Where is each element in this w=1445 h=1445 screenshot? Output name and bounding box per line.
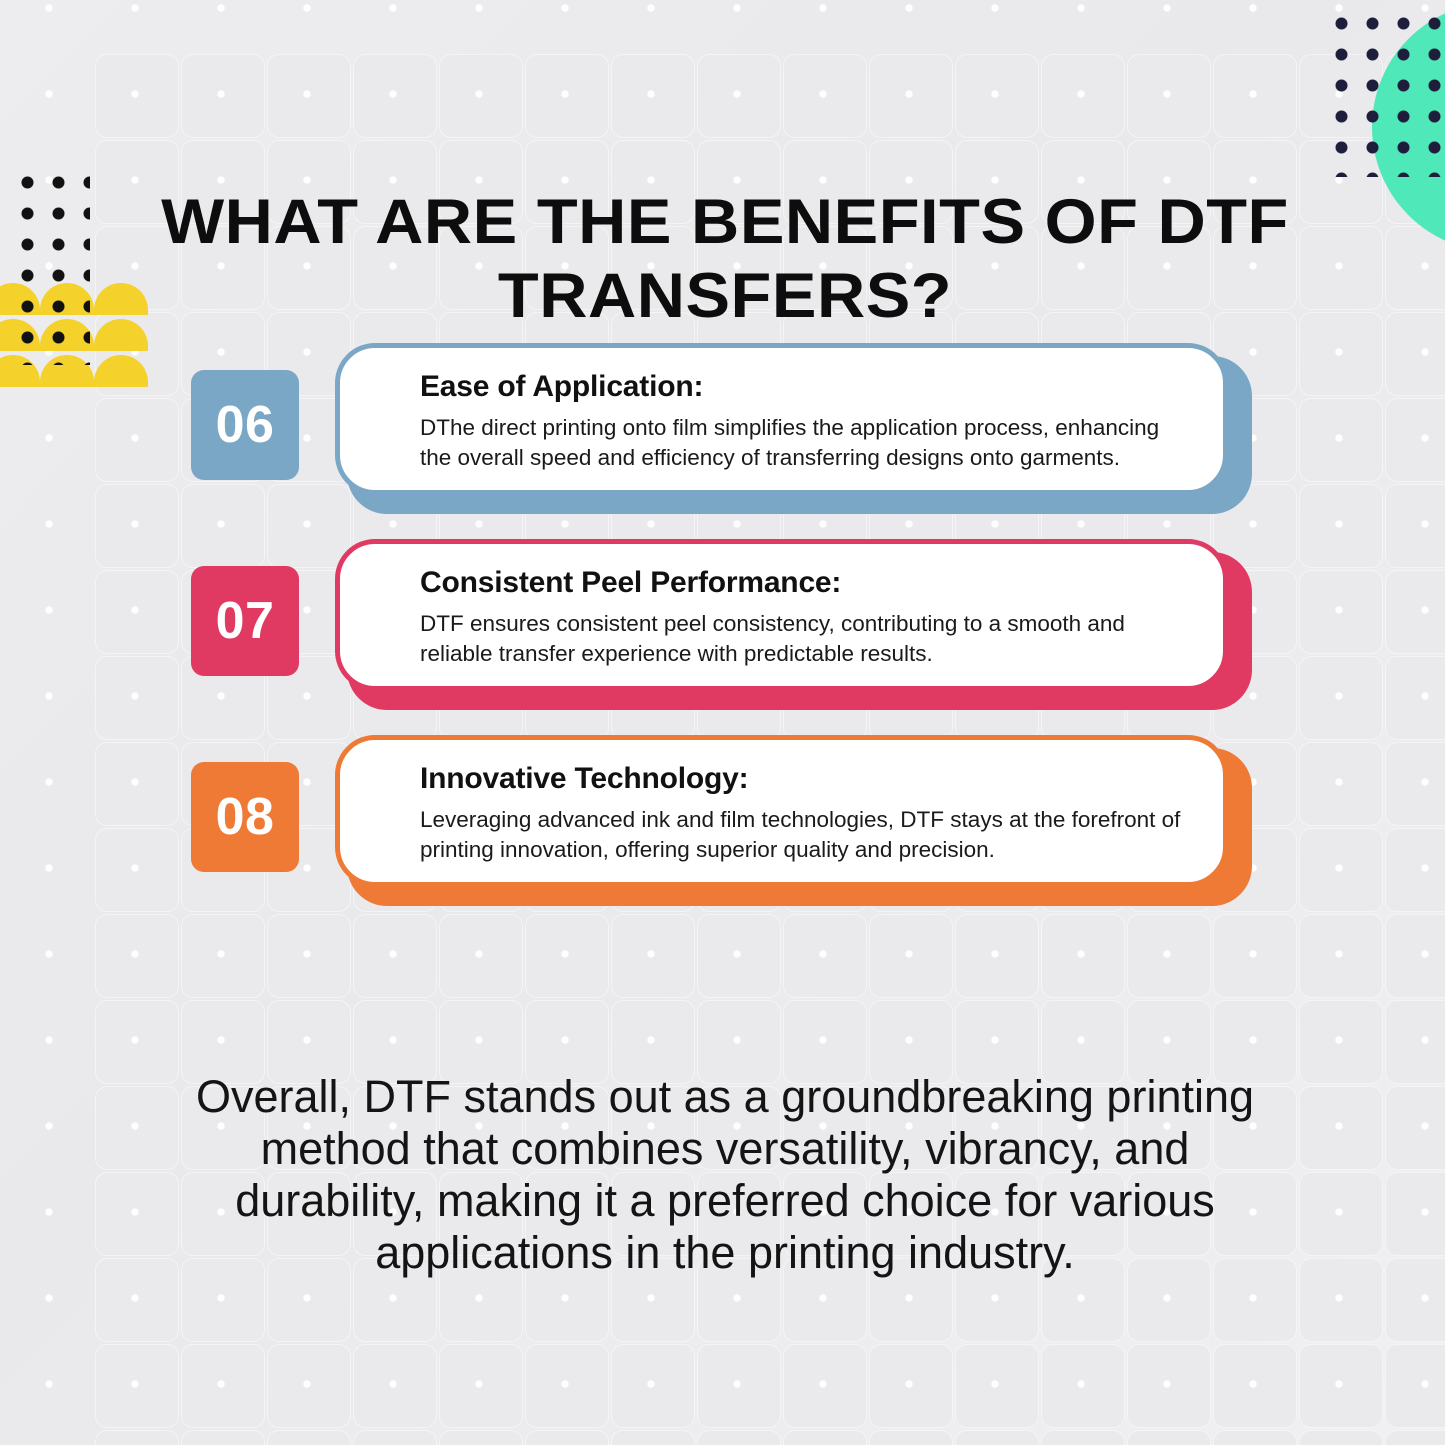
- background-tile: [1386, 1345, 1445, 1427]
- background-tile: [268, 1431, 350, 1445]
- background-tile: [612, 915, 694, 997]
- background-tile: [1300, 1087, 1382, 1169]
- card-heading: Consistent Peel Performance:: [420, 566, 1189, 600]
- background-tile: [1300, 1001, 1382, 1083]
- background-tile: [96, 1001, 178, 1083]
- background-tile: [1128, 915, 1210, 997]
- background-tile: [354, 1345, 436, 1427]
- background-tile: [182, 915, 264, 997]
- card-number-badge: 08: [191, 762, 299, 872]
- background-tile: [870, 1431, 952, 1445]
- background-tile: [440, 1345, 522, 1427]
- dot-grid-left-icon: [10, 165, 90, 365]
- background-tile: [784, 1345, 866, 1427]
- background-tile: [1300, 915, 1382, 997]
- background-tile: [526, 1431, 608, 1445]
- background-tile: [526, 915, 608, 997]
- background-tile: [698, 55, 780, 137]
- background-tile: [96, 1259, 178, 1341]
- background-tile: [96, 1345, 178, 1427]
- background-tile: [440, 915, 522, 997]
- background-tile: [698, 1431, 780, 1445]
- background-tile: [96, 1431, 178, 1445]
- background-tile: [1128, 1431, 1210, 1445]
- benefit-card-list: 06Ease of Application:DThe direct printi…: [0, 338, 1445, 926]
- background-tile: [1300, 1431, 1382, 1445]
- background-tile: [96, 915, 178, 997]
- background-tile: [526, 1345, 608, 1427]
- summary-paragraph: Overall, DTF stands out as a groundbreak…: [176, 1071, 1274, 1279]
- background-tile: [182, 1431, 264, 1445]
- background-tile: [1042, 55, 1124, 137]
- background-tile: [1214, 1431, 1296, 1445]
- background-tile: [1042, 1345, 1124, 1427]
- background-tile: [96, 55, 178, 137]
- background-tile: [784, 915, 866, 997]
- background-tile: [1386, 1173, 1445, 1255]
- background-tile: [784, 1431, 866, 1445]
- card-number-badge: 06: [191, 370, 299, 480]
- background-tile: [1214, 915, 1296, 997]
- background-tile: [440, 55, 522, 137]
- background-tile: [1042, 1431, 1124, 1445]
- card-description: DThe direct printing onto film simplifie…: [420, 413, 1189, 473]
- background-tile: [698, 1345, 780, 1427]
- dot-grid-top-right-icon: [1320, 2, 1445, 177]
- background-tile: [1300, 1345, 1382, 1427]
- background-tile: [1386, 1259, 1445, 1341]
- background-tile: [526, 55, 608, 137]
- card-number-badge: 07: [191, 566, 299, 676]
- card-heading: Ease of Application:: [420, 370, 1189, 404]
- background-tile: [956, 915, 1038, 997]
- infographic-poster: WHAT ARE THE BENEFITS OF DTF TRANSFERS? …: [0, 0, 1445, 1445]
- background-tile: [1300, 1173, 1382, 1255]
- background-tile: [956, 55, 1038, 137]
- background-tile: [268, 915, 350, 997]
- background-tile: [698, 915, 780, 997]
- card-description: Leveraging advanced ink and film technol…: [420, 805, 1189, 865]
- card-body-panel: Ease of Application:DThe direct printing…: [335, 343, 1228, 495]
- card-body-panel: Consistent Peel Performance:DTF ensures …: [335, 539, 1228, 691]
- background-tile: [784, 55, 866, 137]
- background-tile: [354, 55, 436, 137]
- benefit-card: 08Innovative Technology:Leveraging advan…: [0, 730, 1445, 926]
- background-tile: [870, 1345, 952, 1427]
- benefit-card: 06Ease of Application:DThe direct printi…: [0, 338, 1445, 534]
- background-tile: [354, 1431, 436, 1445]
- card-body-panel: Innovative Technology:Leveraging advance…: [335, 735, 1228, 887]
- background-tile: [1386, 1431, 1445, 1445]
- background-tile: [612, 1431, 694, 1445]
- card-description: DTF ensures consistent peel consistency,…: [420, 609, 1189, 669]
- benefit-card: 07Consistent Peel Performance:DTF ensure…: [0, 534, 1445, 730]
- background-tile: [182, 55, 264, 137]
- background-tile: [870, 55, 952, 137]
- background-tile: [440, 1431, 522, 1445]
- background-tile: [1128, 55, 1210, 137]
- background-tile: [1214, 55, 1296, 137]
- background-tile: [268, 55, 350, 137]
- background-tile: [956, 1431, 1038, 1445]
- background-tile: [1300, 1259, 1382, 1341]
- background-tile: [354, 915, 436, 997]
- background-tile: [612, 1345, 694, 1427]
- background-tile: [1386, 227, 1445, 309]
- background-tile: [96, 1087, 178, 1169]
- background-tile: [870, 915, 952, 997]
- background-tile: [182, 1345, 264, 1427]
- background-tile: [1386, 915, 1445, 997]
- background-tile: [1128, 1345, 1210, 1427]
- background-tile: [1214, 1345, 1296, 1427]
- background-tile: [1042, 915, 1124, 997]
- card-heading: Innovative Technology:: [420, 762, 1189, 796]
- background-tile: [1386, 1001, 1445, 1083]
- page-title: WHAT ARE THE BENEFITS OF DTF TRANSFERS?: [137, 185, 1314, 333]
- background-tile: [268, 1345, 350, 1427]
- background-tile: [1386, 1087, 1445, 1169]
- background-tile: [96, 1173, 178, 1255]
- background-tile: [956, 1345, 1038, 1427]
- background-tile: [612, 55, 694, 137]
